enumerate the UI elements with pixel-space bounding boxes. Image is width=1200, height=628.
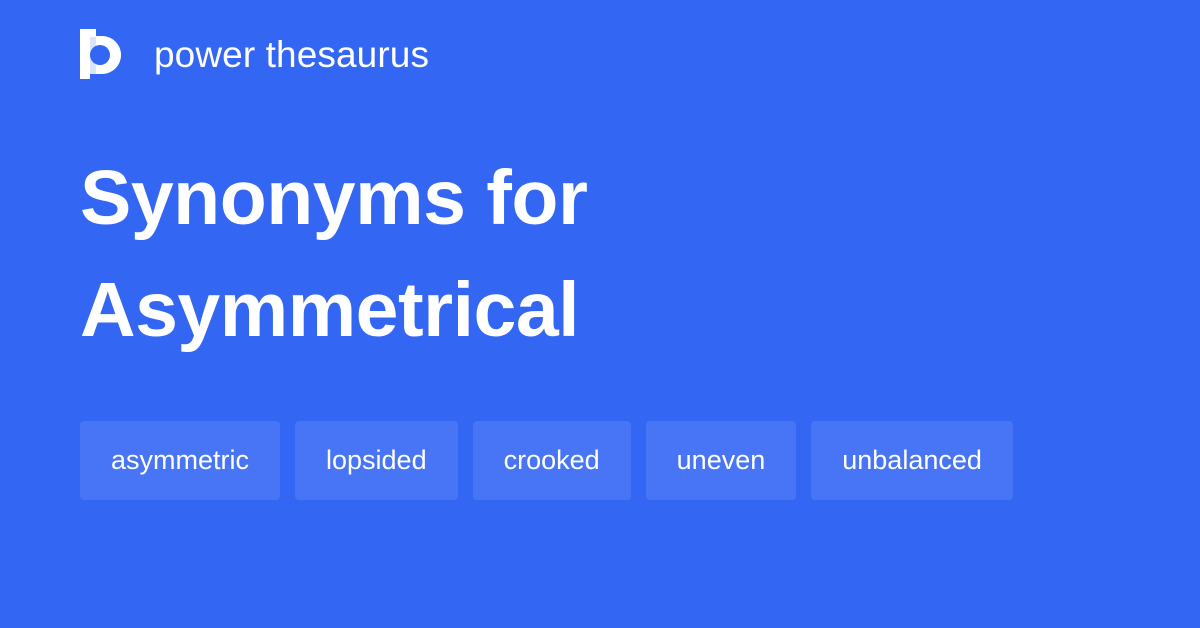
synonym-chip[interactable]: crooked: [473, 421, 631, 500]
synonym-chip[interactable]: unbalanced: [811, 421, 1013, 500]
page-title-line-1: Synonyms for: [80, 142, 1120, 254]
share-card: power thesaurus Synonyms for Asymmetrica…: [0, 0, 1200, 628]
synonym-chip[interactable]: asymmetric: [80, 421, 280, 500]
power-thesaurus-b-logo-icon: [80, 29, 124, 79]
brand-header[interactable]: power thesaurus: [80, 28, 429, 80]
synonym-chip-list: asymmetric lopsided crooked uneven unbal…: [80, 421, 1120, 500]
page-title-line-2: Asymmetrical: [80, 254, 1120, 366]
brand-name: power thesaurus: [154, 36, 429, 73]
synonym-chip[interactable]: uneven: [646, 421, 797, 500]
page-title: Synonyms for Asymmetrical: [80, 142, 1120, 366]
synonym-chip[interactable]: lopsided: [295, 421, 458, 500]
